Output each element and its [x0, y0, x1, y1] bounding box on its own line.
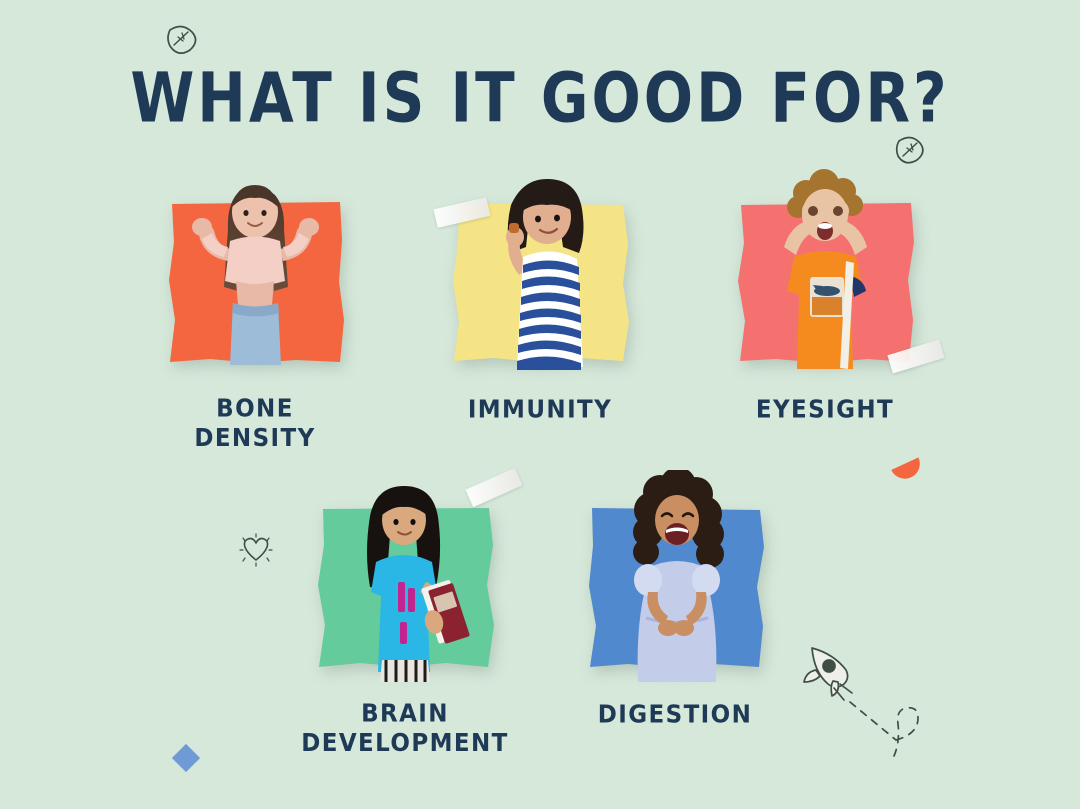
child-illustration-binoculars [728, 165, 923, 380]
benefits-row-top: BONE DENSITY [0, 165, 1080, 451]
child-illustration-laughing [578, 470, 773, 685]
page-title: WHAT IS IT GOOD FOR? [0, 58, 1080, 138]
photo-immunity [443, 165, 638, 380]
photo-bone-density [158, 165, 353, 380]
benefit-card-immunity[interactable]: IMMUNITY [443, 165, 638, 451]
leaf-icon [893, 130, 927, 164]
benefit-card-brain-development[interactable]: BRAIN DEVELOPMENT [308, 470, 503, 756]
photo-digestion [578, 470, 773, 685]
benefit-card-eyesight[interactable]: EYESIGHT [728, 165, 923, 451]
photo-eyesight [728, 165, 923, 380]
photo-brain-development [308, 470, 503, 685]
leaf-icon [163, 18, 199, 54]
rocket-icon [800, 638, 925, 758]
benefit-card-bone-density[interactable]: BONE DENSITY [158, 165, 353, 451]
child-illustration-gummy [443, 165, 638, 380]
child-illustration-reading [308, 470, 503, 685]
benefit-label: EYESIGHT [756, 396, 894, 426]
benefit-label: DIGESTION [598, 701, 752, 731]
benefit-label: IMMUNITY [468, 396, 612, 426]
benefit-card-digestion[interactable]: DIGESTION [578, 470, 773, 756]
benefit-label: BRAIN DEVELOPMENT [301, 699, 509, 759]
benefit-label: BONE DENSITY [158, 394, 353, 454]
sparkle-heart-icon [238, 532, 274, 568]
child-illustration-flexing [158, 165, 353, 380]
